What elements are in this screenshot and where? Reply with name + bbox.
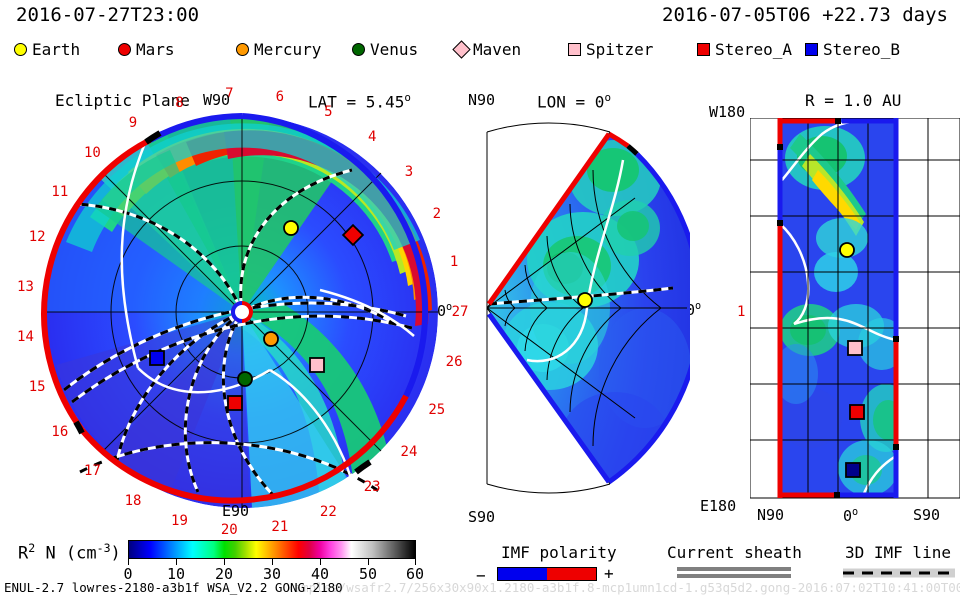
ecliptic-hour-label-24: 24 [401, 445, 418, 459]
legend-label-venus: Venus [370, 40, 418, 59]
colorbar: 0102030405060 [128, 540, 416, 559]
mercury-marker-icon [236, 43, 249, 56]
ecliptic-hour-label-16: 16 [51, 425, 68, 439]
earth-marker-icon [14, 43, 27, 56]
ecliptic-hour-label-25: 25 [428, 403, 445, 417]
venus-marker-icon [238, 372, 252, 386]
earth-marker-icon [284, 221, 298, 235]
stereo_a-marker-icon [697, 43, 710, 56]
earth-marker-icon [578, 293, 592, 307]
ecliptic-hour-label-2: 2 [433, 207, 441, 221]
legend-item-maven: Maven [455, 36, 521, 62]
ecliptic-hour-label-26: 26 [446, 355, 463, 369]
colorbar-title: R2 N (cm-3) [18, 543, 121, 563]
stereo_b-marker-icon [150, 351, 164, 365]
ecliptic-e90-label: E90 [222, 504, 249, 519]
ecliptic-plot [20, 100, 450, 515]
footer-watermark: xamples/wsafr2.7/256x30x90x1.2180-a3b1f.… [286, 582, 960, 595]
au-s90-label: S90 [913, 508, 940, 523]
meridional-n90-label: N90 [468, 93, 495, 108]
ecliptic-hour-label-22: 22 [320, 505, 337, 519]
au-density-field [774, 118, 912, 498]
imf-polarity-title: IMF polarity [501, 545, 617, 561]
ecliptic-hour-label-11: 11 [51, 185, 68, 199]
current-sheath-title: Current sheath [667, 545, 802, 561]
body-legend: EarthMarsMercuryVenusMavenSpitzerStereo_… [0, 36, 960, 62]
stereo_b-marker-icon [846, 463, 860, 477]
au-n90-label: N90 [757, 508, 784, 523]
legend-label-mars: Mars [136, 40, 175, 59]
ecliptic-hour-label-13: 13 [17, 280, 34, 294]
legend-item-spitzer: Spitzer [568, 36, 653, 62]
ecliptic-hour-label-3: 3 [405, 165, 413, 179]
legend-label-stereo_a: Stereo_A [715, 40, 792, 59]
legend-label-mercury: Mercury [254, 40, 321, 59]
legend-item-stereo_a: Stereo_A [697, 36, 792, 62]
imf-line-title: 3D IMF line [845, 545, 951, 561]
au-zero-label: 0o [843, 508, 858, 524]
ecliptic-hour-label-6: 6 [276, 90, 284, 104]
imf-polarity-swatch [497, 567, 597, 581]
meridional-s90-label: S90 [468, 510, 495, 525]
spitzer-marker-icon [848, 341, 862, 355]
ecliptic-hour-label-19: 19 [171, 514, 188, 528]
right-timestamp: 2016-07-05T06 +22.73 days [662, 6, 948, 25]
mars-marker-icon [118, 43, 131, 56]
enlil-visualization: 2016-07-27T23:00 2016-07-05T06 +22.73 da… [0, 0, 960, 600]
ecliptic-zero-label: 0o [437, 303, 452, 319]
ecliptic-hour-label-20: 20 [221, 523, 238, 537]
mercury-marker-icon [264, 332, 278, 346]
ecliptic-w90-label: W90 [203, 93, 230, 108]
legend-item-stereo_b: Stereo_B [805, 36, 900, 62]
legend-item-earth: Earth [14, 36, 80, 62]
maven-marker-icon [452, 40, 470, 58]
spitzer-marker-icon [568, 43, 581, 56]
ecliptic-hour-label-18: 18 [125, 494, 142, 508]
legend-item-venus: Venus [352, 36, 418, 62]
sun-marker [231, 301, 253, 323]
footer-caption: ENUL-2.7 lowres-2180-a3b1f WSA_V2.2 GONG… [4, 582, 343, 595]
ecliptic-hour-label-10: 10 [84, 146, 101, 160]
stereo_b-marker-icon [805, 43, 818, 56]
imf-line-swatch [843, 565, 955, 581]
au-one-label: 1 [737, 305, 745, 319]
legend-label-maven: Maven [473, 40, 521, 59]
au-panel-title: R = 1.0 AU [805, 93, 901, 109]
legend-item-mars: Mars [118, 36, 175, 62]
ecliptic-hour-label-5: 5 [324, 105, 332, 119]
ecliptic-hour-label-21: 21 [271, 520, 288, 534]
stereo_a-marker-icon [850, 405, 864, 419]
ecliptic-hour-label-12: 12 [29, 230, 46, 244]
au-e180-label: E180 [700, 499, 736, 514]
current-sheath-swatch [677, 567, 791, 578]
ecliptic-hour-label-8: 8 [175, 96, 183, 110]
ecliptic-hour-label-9: 9 [129, 116, 137, 130]
ecliptic-hour-label-14: 14 [17, 330, 34, 344]
imf-negative-swatch [498, 568, 547, 580]
legend-label-earth: Earth [32, 40, 80, 59]
legend-label-stereo_b: Stereo_B [823, 40, 900, 59]
stereo_a-marker-icon [228, 396, 242, 410]
spitzer-marker-icon [310, 358, 324, 372]
imf-positive-swatch [547, 568, 596, 580]
ecliptic-hour-label-17: 17 [84, 464, 101, 478]
au-w180-label: W180 [709, 105, 745, 120]
ecliptic-hour-label-15: 15 [29, 380, 46, 394]
legend-label-spitzer: Spitzer [586, 40, 653, 59]
left-timestamp: 2016-07-27T23:00 [16, 6, 199, 25]
ecliptic-hour-label-1: 1 [450, 255, 458, 269]
ecliptic-hour-label-23: 23 [364, 480, 381, 494]
venus-marker-icon [352, 43, 365, 56]
meridional-plot [465, 108, 690, 508]
au-plot [750, 118, 960, 503]
legend-item-mercury: Mercury [236, 36, 321, 62]
earth-marker-icon [840, 243, 854, 257]
ecliptic-hour-label-4: 4 [368, 130, 376, 144]
